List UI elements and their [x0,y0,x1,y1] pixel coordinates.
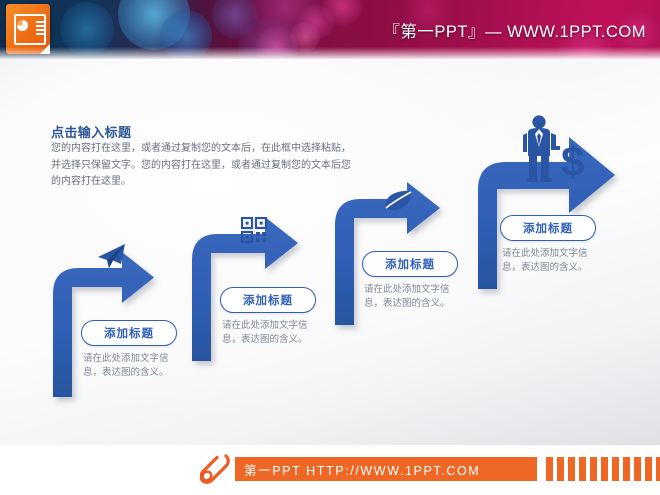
banner-title: 『第一PPT』— WWW.1PPT.COM [383,18,646,42]
step-1-caption: 请在此处添加文字信息，表达图的含义。 [83,352,187,380]
step-3-caption: 请在此处添加文字信息，表达图的含义。 [364,283,468,311]
paper-plane-icon [94,242,128,270]
step-1-title-label: 添加标题 [104,325,154,341]
step-3-title[interactable]: 添加标题 [362,251,458,277]
step-2-caption: 请在此处添加文字信息，表达图的含义。 [222,319,326,347]
ppt-logo-line [36,33,45,35]
ppt-logo-line [36,25,45,27]
businessman-dollar-icon: $ [514,114,586,184]
ppt-logo-line [36,29,45,31]
step-4-caption: 请在此处添加文字信息，表达图的含义。 [502,247,606,275]
footer-stripes [546,457,660,481]
ppt-logo-pie [17,20,28,31]
step-4-title-label: 添加标题 [523,220,573,236]
footer-url-bar: 第一PPT HTTP://WWW.1PPT.COM [235,457,537,481]
slide-canvas: 『第一PPT』— WWW.1PPT.COM 点击输入标题 您的内容打在这里，或者… [0,0,660,495]
step-4-title[interactable]: 添加标题 [500,215,596,241]
step-2-title[interactable]: 添加标题 [220,287,316,313]
ppt-logo-line [36,21,45,23]
step-3-title-label: 添加标题 [385,256,435,272]
footer-url-text: 第一PPT HTTP://WWW.1PPT.COM [235,460,480,479]
footer-bar: 第一PPT HTTP://WWW.1PPT.COM [0,445,660,495]
process-diagram: $ 添加标题 请在此处添加文字信息，表达图的含义。 添加标题 请在此处添加文字信… [0,59,660,445]
qr-code-icon [241,217,267,243]
banner-gloss [0,47,660,59]
slide-body: 点击输入标题 您的内容打在这里，或者通过复制您的文本后，在此框中选择粘贴，并选择… [0,59,660,445]
clip-icon [200,453,234,485]
svg-text:$: $ [561,138,584,184]
step-2-title-label: 添加标题 [243,292,293,308]
header-banner: 『第一PPT』— WWW.1PPT.COM [0,0,660,59]
step-1-title[interactable]: 添加标题 [81,320,177,346]
leaf-icon [383,189,413,213]
